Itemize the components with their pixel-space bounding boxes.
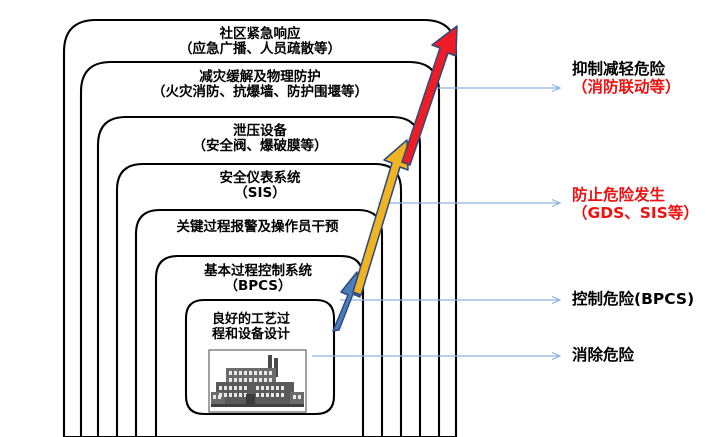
annotation-4-line1: 消除危险 xyxy=(572,346,634,364)
protection-layers-diagram: 社区紧急响应 （应急广播、人员疏散等） 减灾缓解及物理防护 （火灾消防、抗爆墙、… xyxy=(0,0,727,437)
layer-label-7: 良好的工艺过 程和设备设计 xyxy=(192,313,310,342)
layer-label-5: 关键过程报警及操作员干预 xyxy=(150,220,365,235)
annotation-eliminate-hazard: 消除危险 xyxy=(572,346,634,364)
annotation-1-line2: （消防联动等） xyxy=(572,78,681,96)
layer-3-line2: （安全阀、爆破膜等） xyxy=(165,139,355,154)
layer-6-line2: （BPCS） xyxy=(168,279,348,294)
layer-1-line2: （应急广播、人员疏散等） xyxy=(160,42,360,57)
layer-label-4: 安全仪表系统 （SIS） xyxy=(165,171,355,201)
annotation-1-line1: 抑制减轻危险 xyxy=(572,60,681,78)
layer-7-line2: 程和设备设计 xyxy=(192,328,310,343)
annotation-control-hazard: 控制危险(BPCS) xyxy=(572,290,694,308)
layer-label-3: 泄压设备 （安全阀、爆破膜等） xyxy=(165,124,355,154)
layer-4-line1: 安全仪表系统 xyxy=(165,171,355,186)
layer-3-line1: 泄压设备 xyxy=(165,124,355,139)
layer-2-line2: （火灾消防、抗爆墙、防护围堰等） xyxy=(150,85,370,100)
annotation-prevent-hazard: 防止危险发生 （GDS、SIS等） xyxy=(572,186,699,223)
layer-4-line2: （SIS） xyxy=(165,186,355,201)
layer-6-line1: 基本过程控制系统 xyxy=(168,264,348,279)
factory-icon xyxy=(209,350,306,412)
layer-7-line1: 良好的工艺过 xyxy=(192,313,310,328)
annotation-3-line1: 控制危险(BPCS) xyxy=(572,290,694,308)
layer-label-2: 减灾缓解及物理防护 （火灾消防、抗爆墙、防护围堰等） xyxy=(150,70,370,100)
layer-label-1: 社区紧急响应 （应急广播、人员疏散等） xyxy=(160,27,360,57)
annotation-mitigate-hazard: 抑制减轻危险 （消防联动等） xyxy=(572,60,681,97)
layer-2-line1: 减灾缓解及物理防护 xyxy=(150,70,370,85)
layer-5-line1: 关键过程报警及操作员干预 xyxy=(150,220,365,235)
layer-label-6: 基本过程控制系统 （BPCS） xyxy=(168,264,348,294)
annotation-2-line1: 防止危险发生 xyxy=(572,186,699,204)
layer-1-line1: 社区紧急响应 xyxy=(160,27,360,42)
annotation-2-line2: （GDS、SIS等） xyxy=(572,204,699,222)
